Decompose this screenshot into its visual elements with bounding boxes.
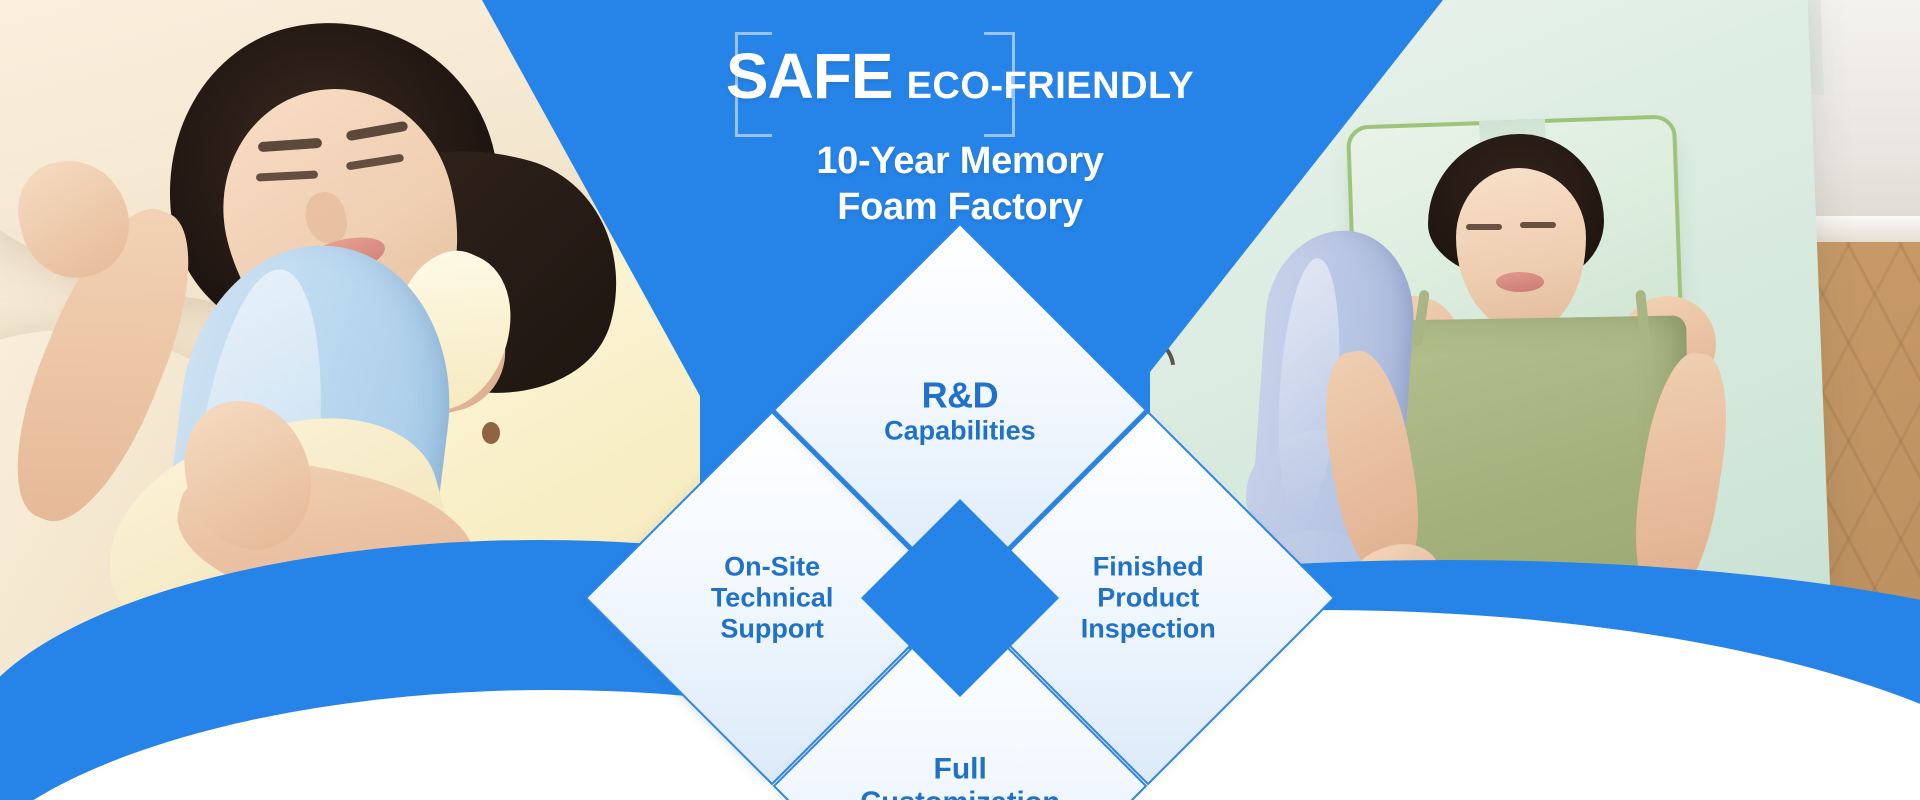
diamond-on-site-label: On-Site Technical Support <box>711 552 834 644</box>
subhead-line-1: 10-Year Memory <box>816 140 1103 182</box>
right-model-eye-right <box>1520 222 1556 228</box>
headline-block: SAFE ECO-FRIENDLY 10-Year Memory Foam Fa… <box>575 12 1345 231</box>
headline-kicker: SAFE ECO-FRIENDLY <box>575 12 1345 108</box>
diamond-on-site-line-3: Support <box>711 613 834 644</box>
diamond-inspection-line-3: Inspection <box>1080 613 1215 644</box>
headline-subhead: 10-Year Memory Foam Factory <box>575 138 1345 231</box>
right-model-eye-left <box>1466 224 1502 230</box>
diamond-customization-line-1: Full <box>860 752 1060 786</box>
diamond-on-site-line-1: On-Site <box>711 552 834 583</box>
diamond-rnd-label: R&D Capabilities <box>884 374 1036 446</box>
promo-banner: SAFE ECO-FRIENDLY 10-Year Memory Foam Fa… <box>0 0 1920 800</box>
diamond-inspection-line-1: Finished <box>1080 552 1215 583</box>
right-model-lips <box>1496 272 1544 292</box>
diamond-inspection-line-2: Product <box>1080 583 1215 614</box>
diamond-inspection-label: Finished Product Inspection <box>1080 552 1215 644</box>
headline-eco-friendly: ECO-FRIENDLY <box>907 67 1195 105</box>
diamond-customization-line-2: Customization <box>860 787 1060 800</box>
diamond-customization-label: Full Customization <box>860 752 1060 800</box>
diamond-rnd-line-1: R&D <box>884 374 1036 415</box>
diamond-rnd-line-2: Capabilities <box>884 415 1036 446</box>
left-model-pajama-button <box>482 422 500 444</box>
diamond-on-site-line-2: Technical <box>711 583 834 614</box>
headline-safe: SAFE <box>726 44 893 108</box>
